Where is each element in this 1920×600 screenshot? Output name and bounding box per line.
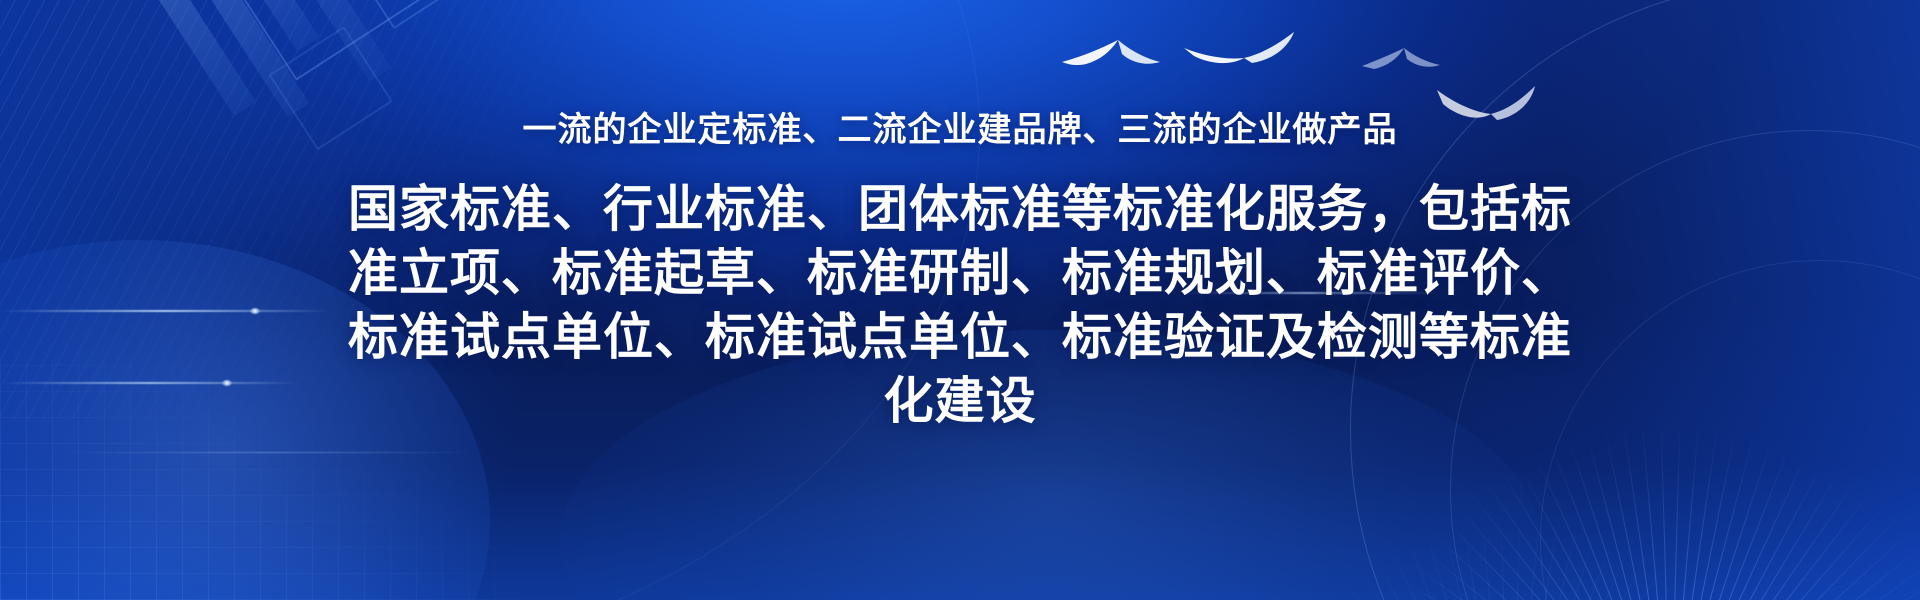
banner-text-content: 一流的企业定标准、二流企业建品牌、三流的企业做产品 国家标准、行业标准、团体标准…: [0, 0, 1920, 600]
banner-headline: 国家标准、行业标准、团体标准等标准化服务，包括标准立项、标准起草、标准研制、标准…: [340, 177, 1580, 433]
promo-banner: 一流的企业定标准、二流企业建品牌、三流的企业做产品 国家标准、行业标准、团体标准…: [0, 0, 1920, 600]
banner-tagline: 一流的企业定标准、二流企业建品牌、三流的企业做产品: [523, 110, 1398, 151]
